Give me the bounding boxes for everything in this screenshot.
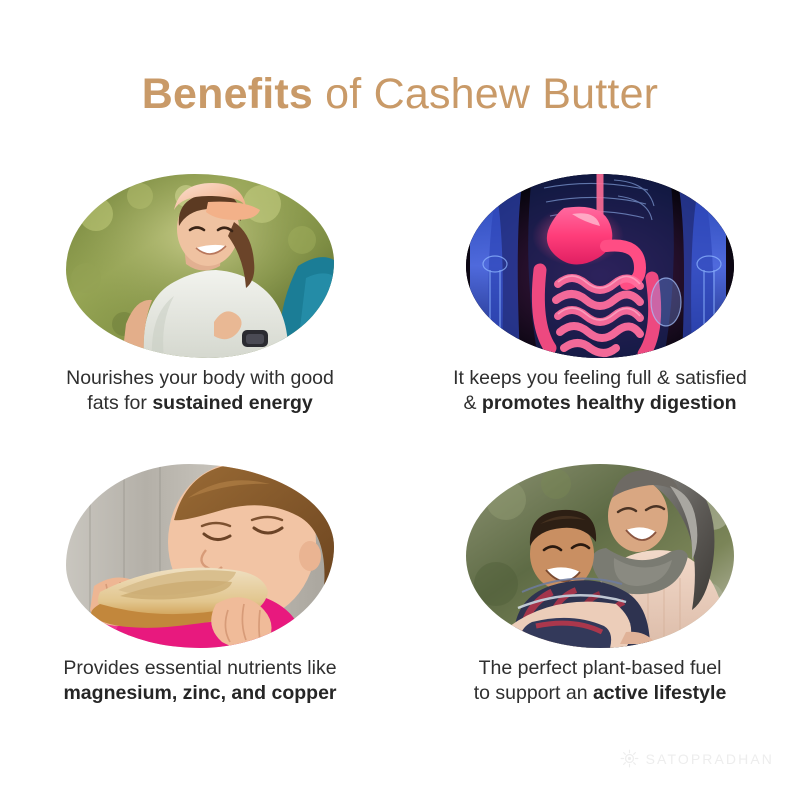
benefit-caption-healthy-digestion: It keeps you feeling full & satisfied & … — [410, 366, 790, 416]
caption-line-2-normal: fats for — [87, 392, 152, 414]
caption-line-1: It keeps you feeling full & satisfied — [453, 367, 747, 389]
benefit-photo-family — [466, 464, 734, 648]
caption-line-2-normal: & — [463, 392, 481, 414]
digestive-system-illustration — [466, 174, 734, 358]
caption-highlight: sustained energy — [152, 392, 312, 414]
benefit-card-essential-nutrients: Provides essential nutrients like magnes… — [0, 458, 400, 748]
family-hug-illustration — [466, 464, 734, 648]
sun-icon — [620, 749, 639, 768]
benefit-caption-sustained-energy: Nourishes your body with good fats for s… — [10, 366, 390, 416]
brand-watermark: SATOPRADHAN — [620, 749, 774, 768]
benefits-grid: Nourishes your body with good fats for s… — [0, 168, 800, 748]
benefit-photo-child-eating — [66, 464, 334, 648]
runner-photo-illustration — [66, 174, 334, 358]
benefit-card-active-lifestyle: The perfect plant-based fuel to support … — [400, 458, 800, 748]
infographic-canvas: Benefits of Cashew Butter — [0, 0, 800, 800]
caption-highlight: promotes healthy digestion — [482, 392, 737, 414]
benefit-caption-active-lifestyle: The perfect plant-based fuel to support … — [410, 656, 790, 706]
benefit-photo-digestive-system — [466, 174, 734, 358]
caption-highlight: magnesium, zinc, and copper — [63, 682, 336, 704]
caption-highlight: active lifestyle — [593, 682, 726, 704]
page-title-bold: Benefits — [142, 70, 313, 118]
page-title: Benefits of Cashew Butter — [0, 68, 800, 120]
brand-name: SATOPRADHAN — [646, 751, 774, 767]
caption-line-2-normal: to support an — [474, 682, 593, 704]
caption-line-1: The perfect plant-based fuel — [479, 657, 722, 679]
benefit-caption-essential-nutrients: Provides essential nutrients like magnes… — [10, 656, 390, 706]
caption-line-1: Nourishes your body with good — [66, 367, 334, 389]
benefit-card-sustained-energy: Nourishes your body with good fats for s… — [0, 168, 400, 458]
page-title-rest: of Cashew Butter — [313, 70, 658, 118]
benefit-photo-runner — [66, 174, 334, 358]
child-eating-illustration — [66, 464, 334, 648]
caption-line-1: Provides essential nutrients like — [63, 657, 336, 679]
benefit-card-healthy-digestion: It keeps you feeling full & satisfied & … — [400, 168, 800, 458]
